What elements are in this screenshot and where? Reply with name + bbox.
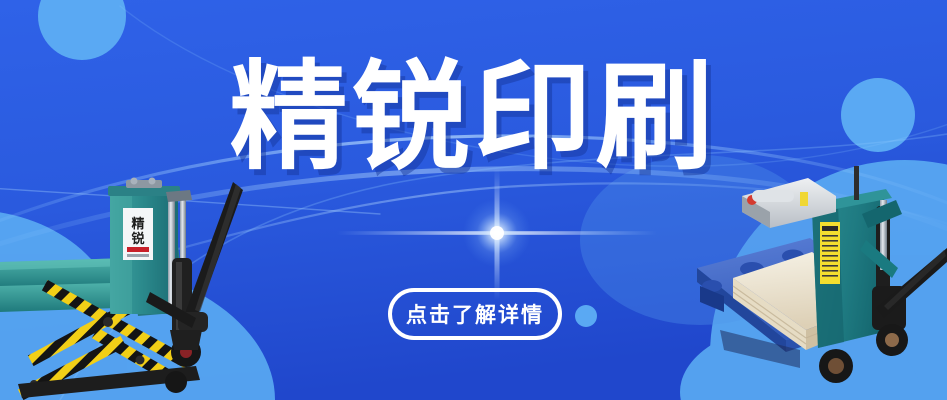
warning-label (820, 222, 840, 284)
promo-banner: 精 锐 (0, 0, 947, 400)
learn-more-button-label: 点击了解详情 (406, 299, 544, 329)
head-tube (752, 190, 794, 202)
paper-cutter-group (697, 166, 947, 383)
learn-more-button[interactable]: 点击了解详情 (388, 288, 562, 340)
page-title: 精锐印刷 (0, 52, 947, 184)
